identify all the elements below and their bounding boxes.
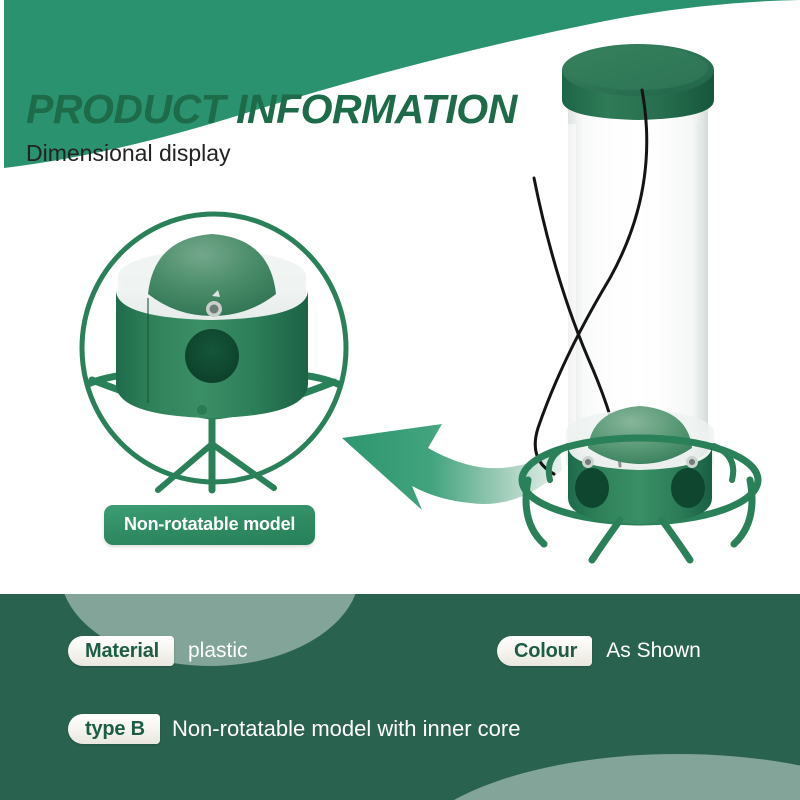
feeding-port-right <box>671 468 705 508</box>
spec-row-colour: Colour As Shown <box>497 636 701 666</box>
non-rotatable-model-badge: Non-rotatable model <box>104 505 315 545</box>
spec-label-type: type B <box>68 714 160 744</box>
spec-label-material: Material <box>68 636 174 666</box>
full-product-image <box>492 28 782 568</box>
spec-row-material: Material plastic <box>68 636 248 666</box>
specification-panel: Material plastic Colour As Shown type B … <box>0 594 800 800</box>
spec-label-material-text: Material <box>85 641 159 661</box>
spec-label-colour-text: Colour <box>514 641 577 661</box>
non-rotatable-model-badge-label: Non-rotatable model <box>124 514 295 534</box>
feeder-base-detail-image <box>62 198 362 498</box>
feeding-port-left <box>575 468 609 508</box>
spec-value-colour: As Shown <box>606 639 701 663</box>
spec-value-type: Non-rotatable model with inner core <box>172 717 521 741</box>
product-information-page: PRODUCT INFORMATION Dimensional display <box>0 0 800 800</box>
spec-row-type: type B Non-rotatable model with inner co… <box>68 714 520 744</box>
spec-label-colour: Colour <box>497 636 592 666</box>
spec-label-type-text: type B <box>85 719 145 739</box>
spec-value-material: plastic <box>188 639 248 663</box>
spec-rows: Material plastic Colour As Shown type B … <box>0 594 800 800</box>
feeding-port <box>185 329 239 383</box>
